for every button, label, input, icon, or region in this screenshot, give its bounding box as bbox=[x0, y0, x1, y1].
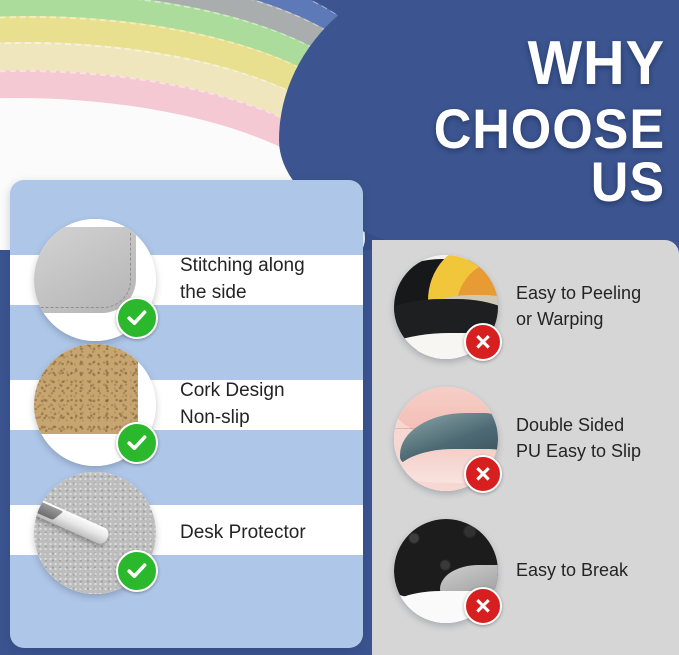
pros-label-1: Stitching along the side bbox=[180, 253, 305, 307]
pros-thumbnail-1 bbox=[34, 219, 156, 341]
list-item: Easy to Break bbox=[390, 512, 679, 630]
list-item: Stitching along the side bbox=[10, 215, 363, 345]
headline-line-2: CHOOSE US bbox=[386, 102, 665, 210]
list-item: Easy to Peeling or Warping bbox=[390, 248, 679, 366]
check-icon bbox=[116, 297, 158, 339]
cons-label-3: Easy to Break bbox=[516, 558, 628, 584]
page-title: WHY CHOOSE US bbox=[365, 34, 665, 209]
list-item: Desk Protector bbox=[10, 468, 363, 598]
pros-thumbnail-2 bbox=[34, 344, 156, 466]
gray-mat-corner-stitching-photo bbox=[34, 227, 136, 313]
cons-label-1: Easy to Peeling or Warping bbox=[516, 281, 641, 332]
list-item: Cork Design Non-slip bbox=[10, 340, 363, 470]
list-item: Double Sided PU Easy to Slip bbox=[390, 380, 679, 498]
cons-thumbnail-1 bbox=[394, 255, 498, 359]
cross-icon bbox=[464, 455, 502, 493]
cons-thumbnail-3 bbox=[394, 519, 498, 623]
check-icon bbox=[116, 550, 158, 592]
infographic-root: WHY CHOOSE US bbox=[0, 0, 679, 655]
pros-panel: Stitching along the side Cork Design Non… bbox=[10, 180, 363, 648]
cons-panel: Easy to Peeling or Warping Doub bbox=[372, 240, 679, 655]
pros-label-3: Desk Protector bbox=[180, 520, 306, 547]
headline-line-1: WHY bbox=[386, 34, 665, 94]
cross-icon bbox=[464, 587, 502, 625]
cross-icon bbox=[464, 323, 502, 361]
pros-label-2: Cork Design Non-slip bbox=[180, 378, 285, 432]
pros-thumbnail-3 bbox=[34, 472, 156, 594]
cork-texture-photo bbox=[34, 344, 138, 434]
check-icon bbox=[116, 422, 158, 464]
cons-label-2: Double Sided PU Easy to Slip bbox=[516, 413, 641, 464]
cons-thumbnail-2 bbox=[394, 387, 498, 491]
